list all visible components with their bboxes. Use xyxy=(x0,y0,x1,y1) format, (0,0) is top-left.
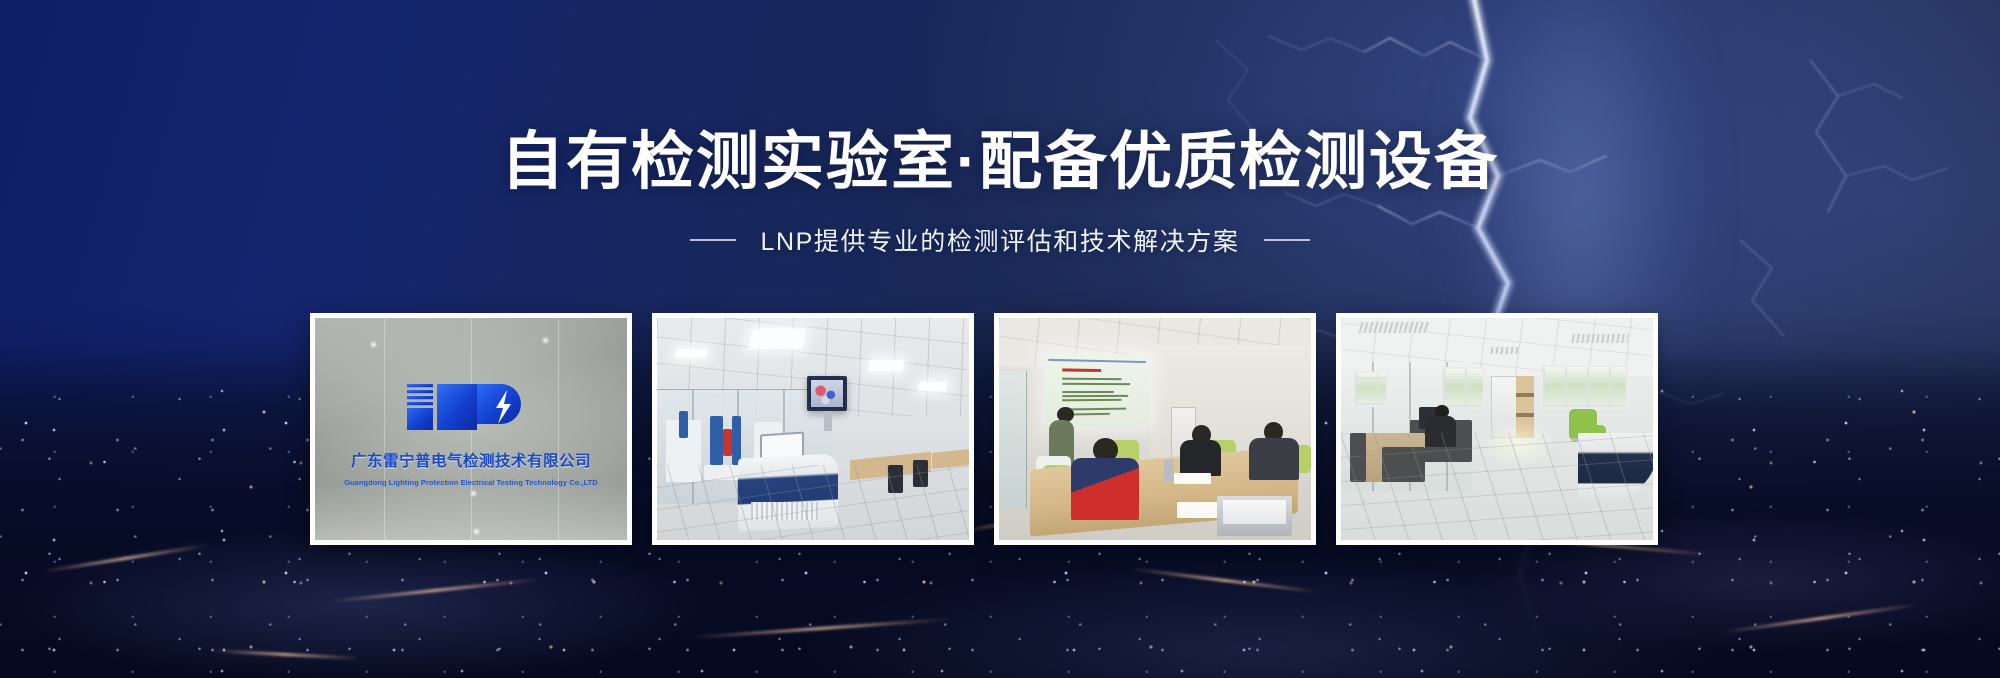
hero-subtitle: LNP提供专业的检测评估和技术解决方案 xyxy=(760,222,1239,258)
frosted-glass-door xyxy=(999,371,1027,509)
ceiling-vent xyxy=(1571,334,1629,343)
window-grid xyxy=(1543,367,1626,407)
photo-image-signage: 广东雷宁普电气检测技术有限公司 Guangdong Lighting Prote… xyxy=(315,318,627,540)
rule-left-decoration xyxy=(690,239,736,241)
slide-text-line xyxy=(1062,382,1130,384)
ceiling-vent xyxy=(1358,322,1430,333)
hero-text-block: 自有检测实验室·配备优质检测设备 LNP提供专业的检测评估和技术解决方案 xyxy=(0,128,2000,258)
office-floor xyxy=(1341,433,1653,540)
hero-banner: 自有检测实验室·配备优质检测设备 LNP提供专业的检测评估和技术解决方案 xyxy=(0,0,2000,678)
test-apparatus xyxy=(723,429,732,456)
display-mount xyxy=(824,411,832,431)
photo-image-meeting-room xyxy=(999,318,1311,540)
slide-toolbar xyxy=(1049,358,1146,362)
window-grid xyxy=(1355,373,1385,405)
attendee-body xyxy=(1249,438,1299,480)
laptop-computer xyxy=(1217,496,1292,536)
ceiling-light xyxy=(868,360,905,371)
window-grid xyxy=(1443,369,1483,407)
hero-subline: LNP提供专业的检测评估和技术解决方案 xyxy=(0,222,2000,258)
office-window xyxy=(1541,365,1628,409)
gallery-photo-testing-laboratory[interactable] xyxy=(652,313,974,545)
ceiling-vent xyxy=(1490,347,1519,354)
office-window xyxy=(1353,371,1387,407)
slide-text-line xyxy=(1062,399,1122,401)
rule-right-decoration xyxy=(1264,239,1310,241)
photo-image-office xyxy=(1341,318,1653,540)
test-apparatus xyxy=(732,416,741,465)
thermos-cup xyxy=(1164,460,1173,482)
meeting-document xyxy=(1174,473,1211,484)
hero-headline: 自有检测实验室·配备优质检测设备 xyxy=(0,128,2000,196)
slide-title-line xyxy=(1062,368,1101,372)
shelf-board xyxy=(1516,413,1535,416)
photo-image-laboratory xyxy=(657,318,969,540)
ceiling-light xyxy=(748,329,805,349)
shelf-board xyxy=(1516,393,1535,396)
office-window xyxy=(1441,367,1485,409)
slide-text-line xyxy=(1062,394,1128,396)
slide-text-line xyxy=(1062,390,1113,392)
attendee-body xyxy=(1071,458,1140,520)
ceiling-light xyxy=(675,349,708,358)
glass-sheen xyxy=(315,318,627,540)
wall-mounted-display xyxy=(807,376,848,412)
photo-gallery-strip: 广东雷宁普电气检测技术有限公司 Guangdong Lighting Prote… xyxy=(310,313,1658,545)
gallery-photo-meeting-room[interactable] xyxy=(994,313,1316,545)
gallery-photo-office-area[interactable] xyxy=(1336,313,1658,545)
lab-floor xyxy=(657,465,969,540)
slide-text-line xyxy=(1062,377,1122,380)
attendee-body xyxy=(1180,440,1221,476)
gallery-photo-company-signage[interactable]: 广东雷宁普电气检测技术有限公司 Guangdong Lighting Prote… xyxy=(310,313,632,545)
ceiling-light xyxy=(918,382,948,391)
test-apparatus xyxy=(679,411,688,438)
test-apparatus xyxy=(710,416,722,465)
